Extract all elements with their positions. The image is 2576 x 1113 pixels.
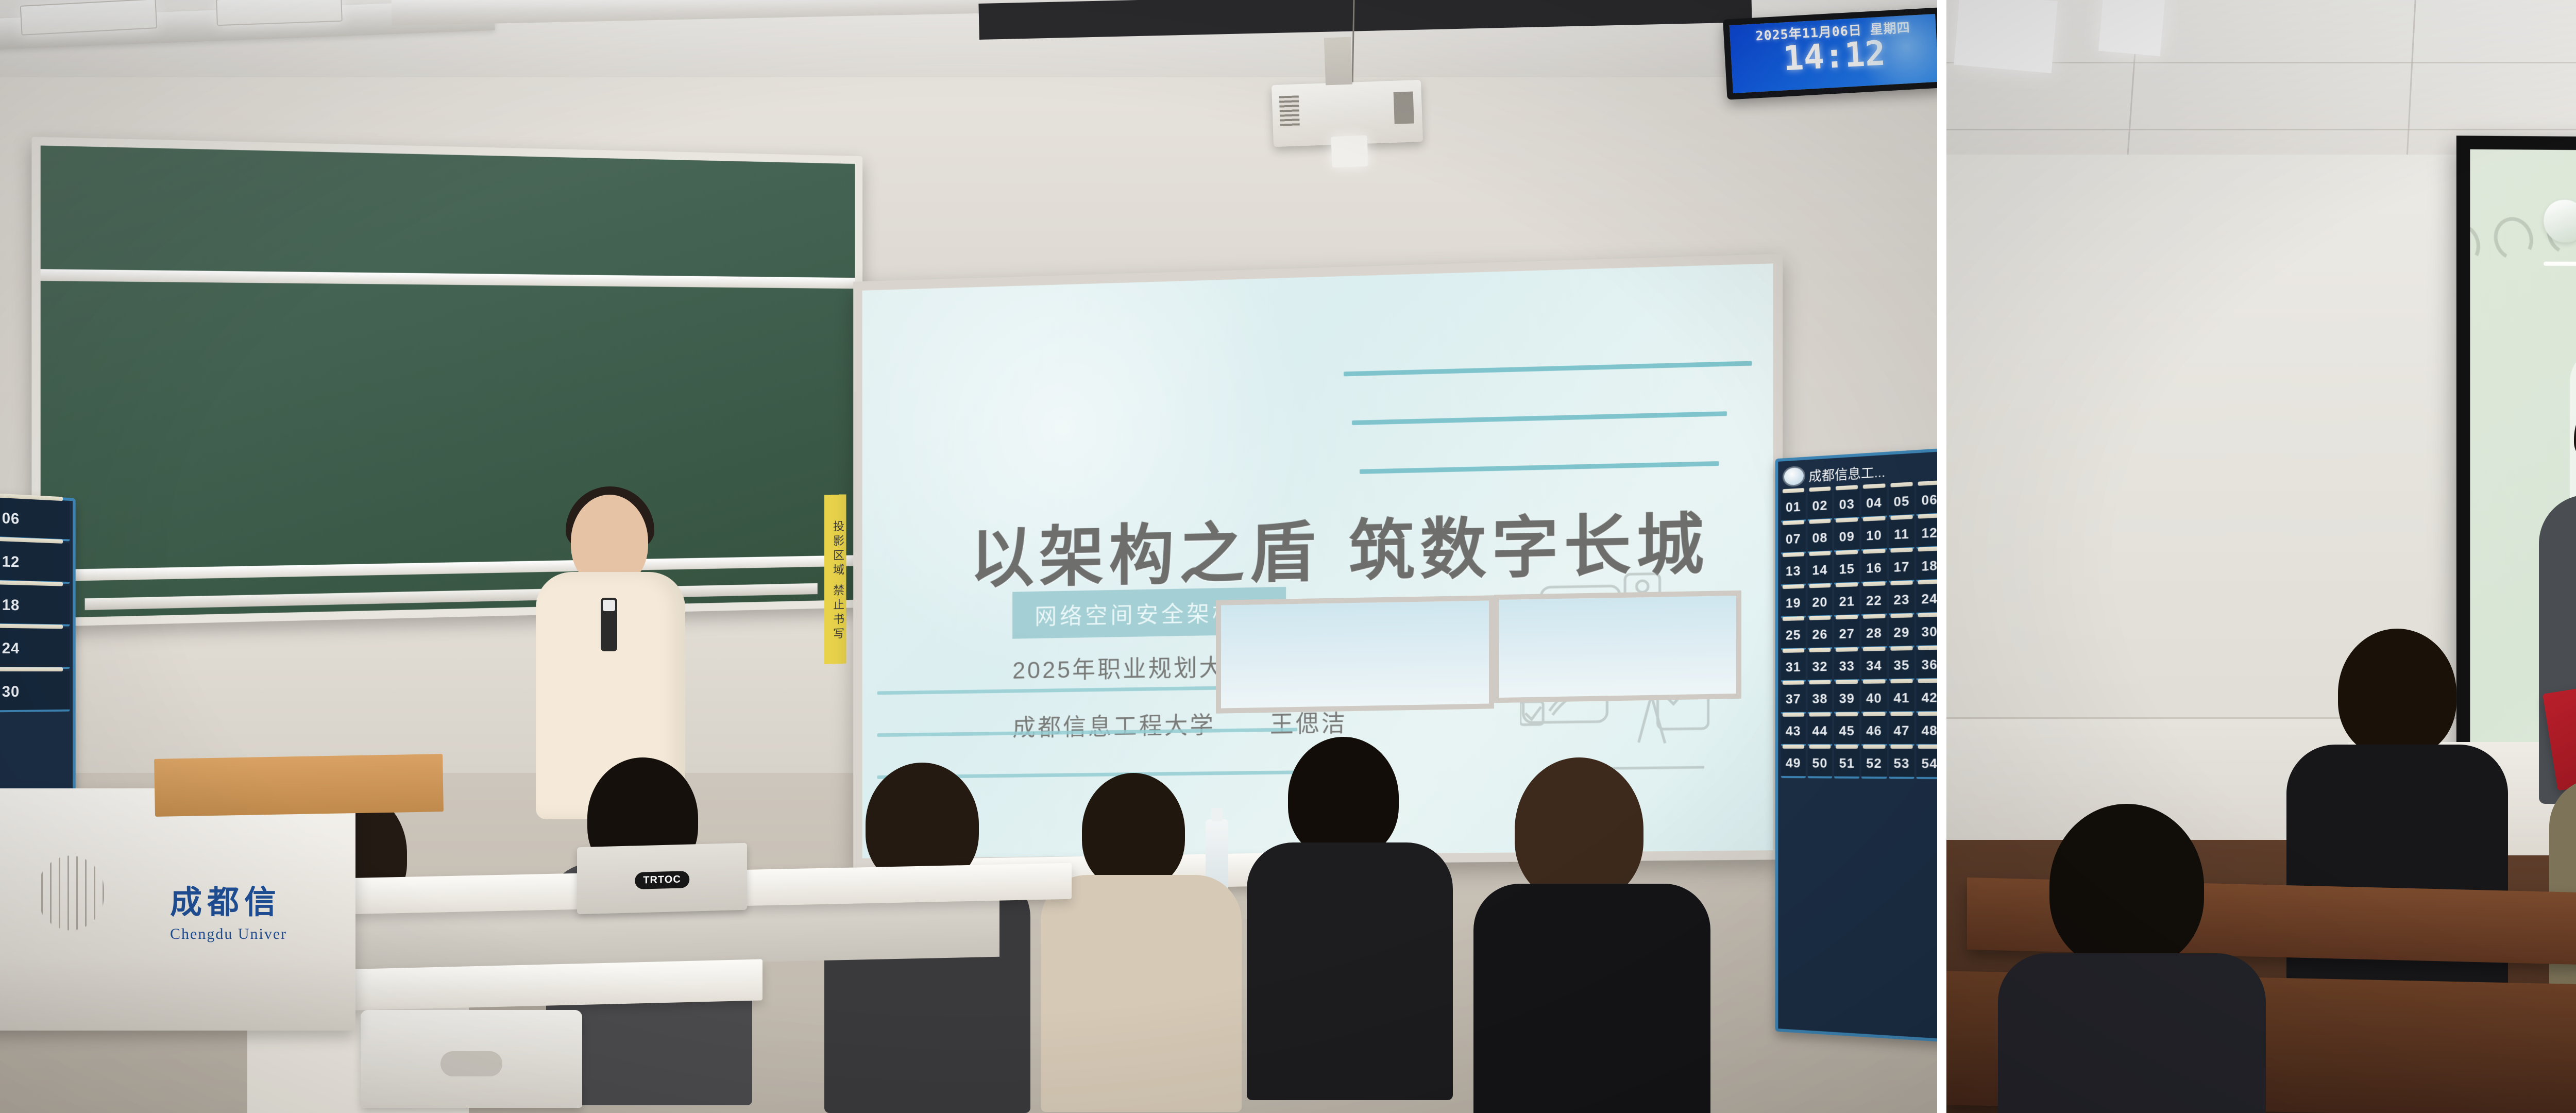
pocket-cell: 29 <box>1889 617 1914 648</box>
pocket-cell: 44 <box>1807 716 1832 746</box>
classroom-window <box>1216 595 1494 713</box>
lectern-name-en: Chengdu Univer <box>170 925 287 943</box>
pocket-cell: 48 <box>1917 715 1937 746</box>
pocket-cell: 20 <box>1807 587 1832 618</box>
digital-clock-display: 2025年11月06日 星期四 14:12 <box>1723 7 1937 99</box>
audience-body <box>1998 953 2266 1113</box>
pocket-cell: 17 <box>1889 551 1914 583</box>
pocket-cell: 16 <box>1861 552 1887 584</box>
pocket-cell: 19 <box>1781 588 1806 619</box>
lectern-name-cn: 成都信 <box>170 876 287 922</box>
pocket-cell: 07 <box>1781 524 1806 554</box>
pocket-cell: 39 <box>1834 683 1859 714</box>
pocket-cell: 34 <box>1861 650 1887 681</box>
ceiling-light <box>1954 0 2057 73</box>
pocket-cell: 35 <box>1889 650 1914 681</box>
pocket-cell: 51 <box>1834 748 1859 779</box>
pocket-cell: 06 <box>1917 484 1937 516</box>
university-logo-icon <box>1784 467 1804 486</box>
pocket-cell: 02 <box>1807 490 1832 521</box>
lectern-speaker-grille <box>16 834 125 952</box>
handheld-microphone <box>601 598 617 651</box>
pocket-cell: 05 <box>1889 485 1914 517</box>
classroom-chair <box>361 1010 582 1108</box>
slide-section-header: 职业定位 <box>2544 192 2576 250</box>
audience-head <box>2338 629 2456 757</box>
pocket-cell: 25 <box>1781 620 1806 650</box>
projection-warning-strip: 投影区域 禁止书写 <box>824 494 846 664</box>
ceiling-light <box>216 0 343 26</box>
pocket-cell: 21 <box>1834 586 1859 617</box>
audience-body <box>1473 884 1710 1113</box>
pocket-cell: 12 <box>0 538 70 584</box>
audience-head <box>1082 773 1185 889</box>
lectern: 成都信 Chengdu Univer <box>0 788 355 1031</box>
pocket-cell: 24 <box>1917 583 1937 615</box>
left-classroom-photo: 投影区域 禁止书写 以架构之盾 筑数字长城 网络空间安全架构师 2025年职业规… <box>0 0 1937 1113</box>
laptop: TRTOC <box>577 843 747 915</box>
decorative-line <box>1344 361 1752 376</box>
pocket-cell: 33 <box>1834 651 1859 682</box>
pocket-cell: 12 <box>1917 517 1937 549</box>
pocket-cell: 24 <box>0 627 70 669</box>
pocket-cell: 32 <box>1807 651 1832 682</box>
pocket-cell: 04 <box>1861 487 1887 519</box>
lectern-branding: 成都信 Chengdu Univer <box>170 876 287 943</box>
bullet-shape-icon <box>2544 200 2576 243</box>
decorative-line <box>1352 411 1727 425</box>
pocket-cell: 18 <box>1917 550 1937 582</box>
photo-composite: 投影区域 禁止书写 以架构之盾 筑数字长城 网络空间安全架构师 2025年职业规… <box>0 0 2576 1113</box>
lectern-wood-top <box>154 754 444 817</box>
pocket-cell: 27 <box>1834 618 1859 649</box>
pocket-cell: 52 <box>1861 748 1887 779</box>
pocket-cell: 47 <box>1889 715 1914 746</box>
pocket-cell: 50 <box>1807 748 1832 779</box>
pocket-cell: 18 <box>0 583 70 627</box>
pocket-cell: 49 <box>1781 748 1806 778</box>
pocket-cell: 41 <box>1889 683 1914 714</box>
ceiling-light <box>2098 0 2165 56</box>
pocket-cell: 30 <box>0 671 70 713</box>
pocket-cell: 43 <box>1781 716 1806 746</box>
pocket-cell: 42 <box>1917 682 1937 713</box>
audience-body <box>1247 842 1453 1100</box>
pocket-cell: 15 <box>1834 553 1859 585</box>
pocket-board-grid: 0612182430 <box>0 495 73 716</box>
ceiling-grid-line <box>1946 129 2576 130</box>
green-chalkboard <box>31 137 862 627</box>
right-lecture-hall-photo: 职业定位 06:10 专业背景概述 摄图·新视界 <box>1946 0 2576 1113</box>
pocket-cell: 54 <box>1917 748 1937 779</box>
pocket-cell: 26 <box>1807 619 1832 650</box>
pocket-cell: 37 <box>1781 684 1806 714</box>
laptop-badge: TRTOC <box>635 871 689 889</box>
audience-head <box>1515 757 1643 902</box>
pocket-cell: 13 <box>1781 555 1806 586</box>
phone-pocket-board-right: 成都信息工... 0102030405060708091011121314151… <box>1775 448 1937 1042</box>
ceiling-projector <box>1272 80 1423 147</box>
decorative-line <box>1360 461 1719 474</box>
pocket-cell: 14 <box>1807 554 1832 585</box>
pocket-cell: 03 <box>1834 488 1859 520</box>
pocket-board-header-text: 成都信息工... <box>1809 462 1886 485</box>
pocket-cell: 23 <box>1889 584 1914 615</box>
projector-vent <box>1279 95 1300 128</box>
audience-body <box>1041 875 1242 1112</box>
pocket-cell: 06 <box>0 495 70 542</box>
pocket-cell: 01 <box>1781 492 1806 523</box>
pocket-cell: 31 <box>1781 652 1806 682</box>
chalk-tray <box>84 583 817 610</box>
pocket-cell: 22 <box>1861 585 1887 616</box>
pocket-cell: 10 <box>1861 520 1887 551</box>
audience-head <box>2049 804 2204 969</box>
classroom-window <box>1494 591 1741 703</box>
pocket-cell: 28 <box>1861 618 1887 649</box>
chalkboard-rail <box>41 269 855 289</box>
pocket-cell: 46 <box>1861 716 1887 746</box>
pocket-board-grid: 0102030405060708091011121314151617181920… <box>1778 484 1937 782</box>
audience-head <box>1288 737 1399 858</box>
ceiling-grid-line <box>2405 0 2416 170</box>
ceiling-dark-band <box>978 0 1752 40</box>
pocket-cell: 53 <box>1889 748 1914 779</box>
pocket-cell: 45 <box>1834 716 1859 746</box>
pocket-cell: 36 <box>1917 649 1937 681</box>
chalkboard-rail <box>41 555 855 581</box>
pocket-cell: 30 <box>1917 616 1937 648</box>
pocket-cell: 11 <box>1889 518 1914 550</box>
notebook-spiral-decoration <box>2470 149 2576 356</box>
pocket-cell: 08 <box>1807 522 1832 554</box>
projector-vent <box>1394 92 1414 124</box>
decorative-line <box>877 728 1297 737</box>
pocket-cell: 09 <box>1834 521 1859 552</box>
pocket-cell: 40 <box>1861 683 1887 714</box>
pocket-cell: 38 <box>1807 684 1832 714</box>
